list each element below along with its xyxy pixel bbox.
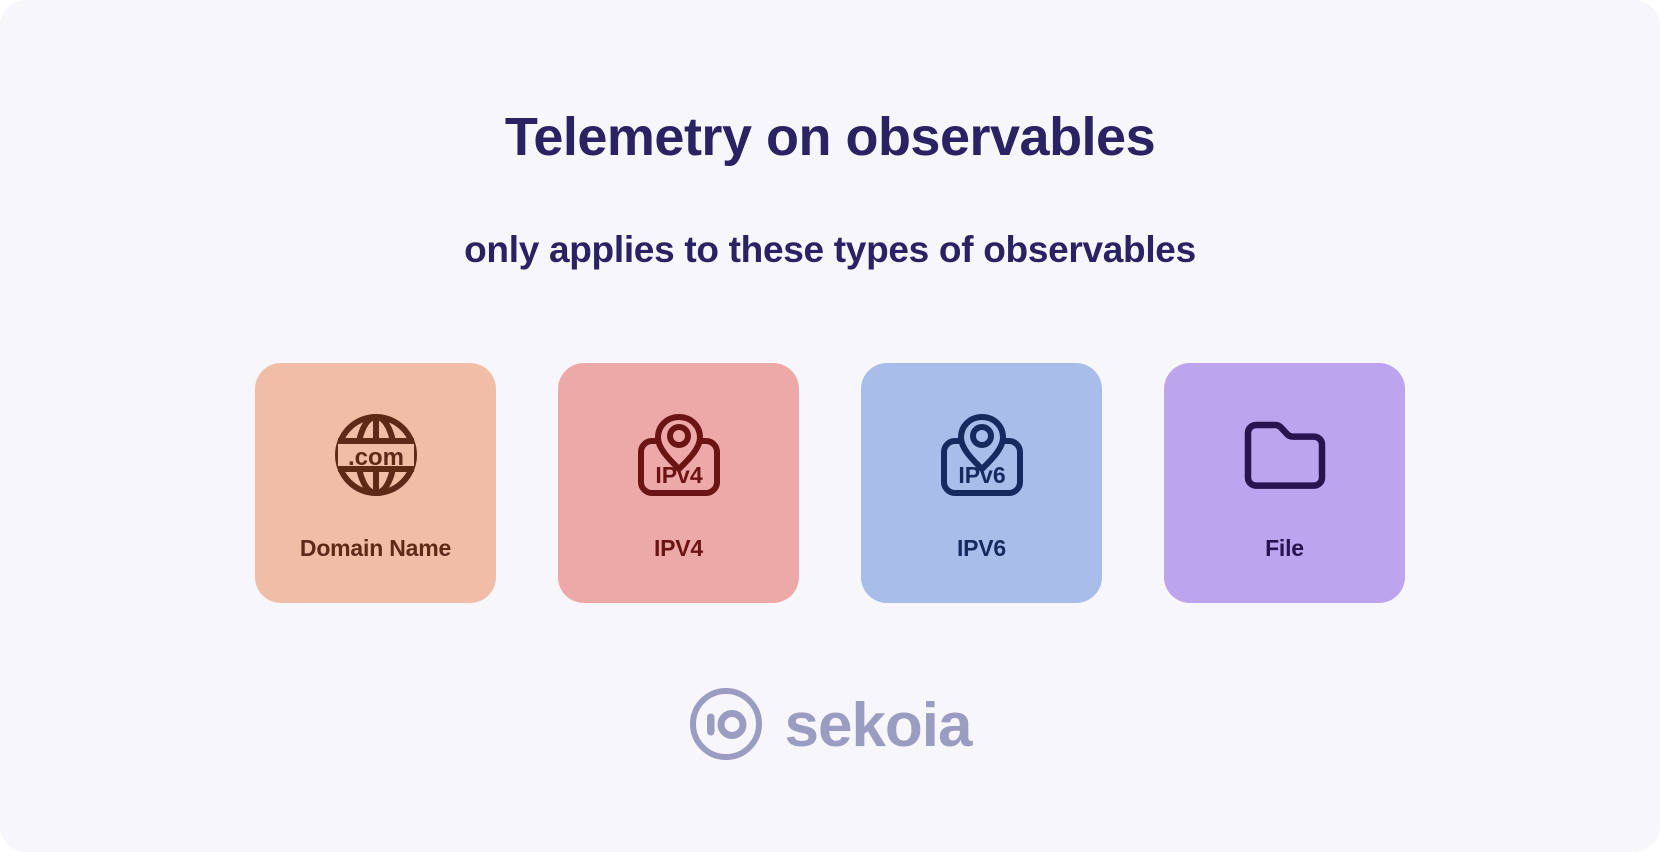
card-ipv6[interactable]: IPv6 IPV6	[861, 363, 1102, 603]
ip-location-pin-icon: IPv6	[934, 407, 1030, 503]
ip-location-pin-icon: IPv4	[631, 407, 727, 503]
page-subtitle: only applies to these types of observabl…	[0, 228, 1660, 272]
sekoia-io-circle-mark	[688, 686, 764, 762]
card-ipv4[interactable]: IPv4 IPV4	[558, 363, 799, 603]
pin-icon-text: IPv6	[958, 462, 1005, 488]
sekoia-logo: sekoia	[0, 686, 1660, 762]
slide-canvas: Telemetry on observables only applies to…	[0, 0, 1660, 852]
pin-icon-text: IPv4	[655, 462, 703, 488]
sekoia-wordmark: sekoia	[784, 695, 971, 757]
card-label: File	[1265, 537, 1304, 560]
globe-dotcom-icon: .com	[328, 407, 424, 503]
card-domain-name[interactable]: .com Domain Name	[255, 363, 496, 603]
card-file[interactable]: File	[1164, 363, 1405, 603]
globe-icon-text: .com	[347, 444, 403, 471]
folder-icon	[1237, 407, 1333, 503]
observable-type-card-list: .com Domain Name IPv4 IPV4	[0, 363, 1660, 603]
card-label: IPV6	[957, 537, 1006, 560]
card-label: Domain Name	[300, 537, 451, 560]
page-title: Telemetry on observables	[0, 108, 1660, 167]
card-label: IPV4	[654, 537, 703, 560]
